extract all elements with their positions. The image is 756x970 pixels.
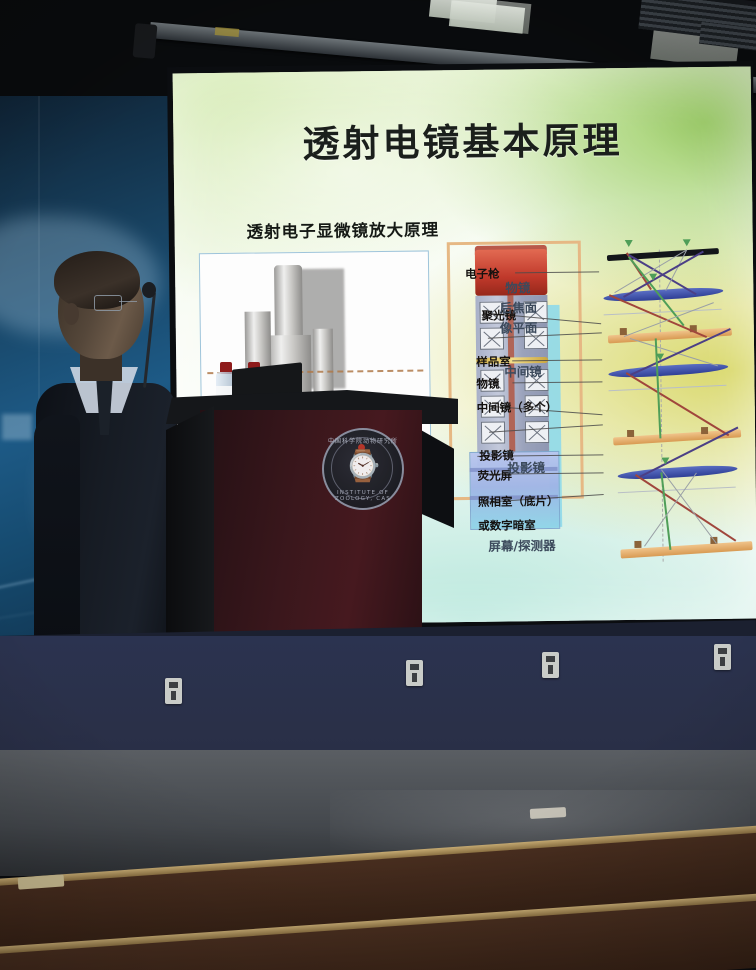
lens-coil-icon — [525, 421, 549, 443]
lens-coil-icon — [481, 422, 505, 444]
intermediate-focal-line — [609, 385, 727, 392]
ray-red — [635, 474, 736, 541]
column-label-digital-darkroom: 或数字暗室 — [478, 517, 536, 534]
ray-diagram — [563, 244, 756, 566]
column-label-intermediate: 中间镜（多个） — [477, 399, 558, 416]
ray-gray — [630, 338, 718, 366]
column-label-camera-chamber: 照相室（底片） — [478, 493, 559, 510]
roller-end-cap — [133, 23, 158, 59]
tem-side-tank — [313, 329, 334, 399]
institute-logo: 中国科学院动物研究所 ⌚ INSTITUTE OF ZOOLOGY, CAS — [322, 428, 404, 510]
wall-outlet — [542, 652, 559, 678]
ray-arrow-icon — [661, 458, 669, 465]
projector-lens-bar — [617, 464, 737, 482]
ray-label-image-plane: 像平面 — [500, 317, 538, 336]
ray-arrow-icon — [656, 354, 664, 361]
wall-outlet — [714, 644, 731, 670]
column-label-objective: 物镜 — [476, 376, 499, 392]
ray-label-objective: 物镜 — [505, 277, 530, 296]
back-focal-plane-line — [604, 309, 722, 316]
ray-label-back-focal: 后焦面 — [499, 297, 537, 316]
photo-scene: 透射电镜基本原理 透射电子显微镜放大原理 — [0, 0, 756, 970]
logo-english-text: INSTITUTE OF ZOOLOGY, CAS — [324, 490, 402, 502]
speaker-ear — [64, 303, 79, 325]
plane-support-foot — [701, 427, 708, 434]
tape-marker — [530, 807, 566, 819]
glasses-icon — [94, 295, 138, 310]
ray-label-projector: 投影镜 — [507, 457, 545, 476]
ray-label-screen-detector: 屏幕/探测器 — [488, 535, 555, 555]
ray-label-intermediate: 中间镜 — [504, 361, 542, 380]
ray-arrow-icon — [649, 274, 657, 281]
object-arrow-icon — [625, 240, 633, 247]
wall-outlet — [165, 678, 182, 704]
slide-title: 透射电镜基本原理 — [173, 108, 752, 169]
ray-red — [626, 372, 729, 436]
plane-support-foot — [627, 430, 634, 437]
crane-bird-icon: ⌚ — [344, 450, 380, 488]
logo-chinese-text: 中国科学院动物研究所 — [324, 436, 402, 445]
wall-outlet — [406, 660, 423, 686]
plane-support-foot — [634, 541, 641, 548]
column-label-electron-gun: 电子枪 — [465, 266, 500, 282]
tem-upper-column — [274, 265, 303, 339]
slide-subtitle: 透射电子显微镜放大原理 — [246, 216, 439, 242]
backdrop-highlight — [2, 414, 32, 440]
object-arrow-icon — [683, 239, 691, 246]
microphone-head-icon — [142, 282, 156, 298]
